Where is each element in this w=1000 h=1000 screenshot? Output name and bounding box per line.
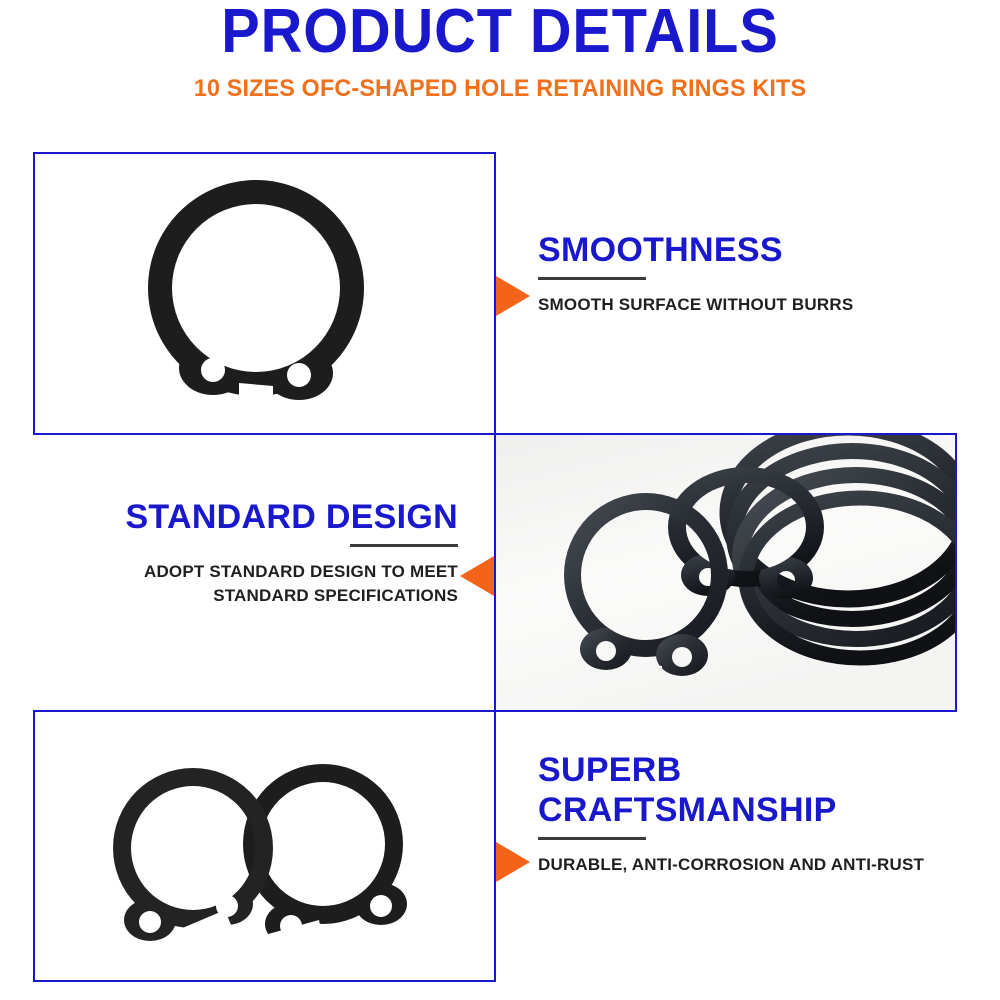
feature-title-superb-line1: SUPERB (538, 750, 938, 790)
feature-title-smoothness: SMOOTHNESS (538, 230, 938, 270)
arrow-left-icon (460, 556, 494, 596)
feature-desc-standard-design-line2: STANDARD SPECIFICATIONS (33, 584, 458, 608)
feature-superb-craftsmanship: SUPERB CRAFTSMANSHIP DURABLE, ANTI-CORRO… (538, 750, 938, 877)
page-subtitle: 10 SIZES OFC-SHAPED HOLE RETAINING RINGS… (15, 76, 985, 102)
feature-divider (538, 837, 646, 840)
arrow-right-icon (496, 842, 530, 882)
stacked-retaining-rings-image (496, 435, 955, 710)
page-title: PRODUCT DETAILS (35, 2, 965, 62)
header: PRODUCT DETAILS 10 SIZES OFC-SHAPED HOLE… (0, 0, 1000, 102)
feature-grid: SMOOTHNESS SMOOTH SURFACE WITHOUT BURRS … (33, 152, 957, 982)
cell-ring-single (35, 154, 494, 433)
grid-rule-bottom (33, 980, 496, 982)
feature-smoothness: SMOOTHNESS SMOOTH SURFACE WITHOUT BURRS (538, 230, 938, 317)
feature-title-superb-line2: CRAFTSMANSHIP (538, 790, 938, 830)
feature-desc-standard-design-line1: ADOPT STANDARD DESIGN TO MEET (33, 560, 458, 584)
feature-divider (350, 544, 458, 547)
feature-desc-superb: DURABLE, ANTI-CORROSION AND ANTI-RUST (538, 853, 938, 877)
grid-rule-right-mid (955, 433, 957, 712)
arrow-right-icon (496, 276, 530, 316)
two-interlocked-retaining-rings-icon (75, 720, 455, 970)
feature-standard-design: STANDARD DESIGN ADOPT STANDARD DESIGN TO… (33, 497, 458, 608)
feature-title-standard-design: STANDARD DESIGN (33, 497, 458, 537)
cell-two-rings (35, 712, 494, 980)
feature-divider (538, 277, 646, 280)
single-retaining-ring-icon (131, 168, 381, 418)
cell-stacked-rings-photo (496, 435, 955, 710)
feature-desc-smoothness: SMOOTH SURFACE WITHOUT BURRS (538, 293, 938, 317)
